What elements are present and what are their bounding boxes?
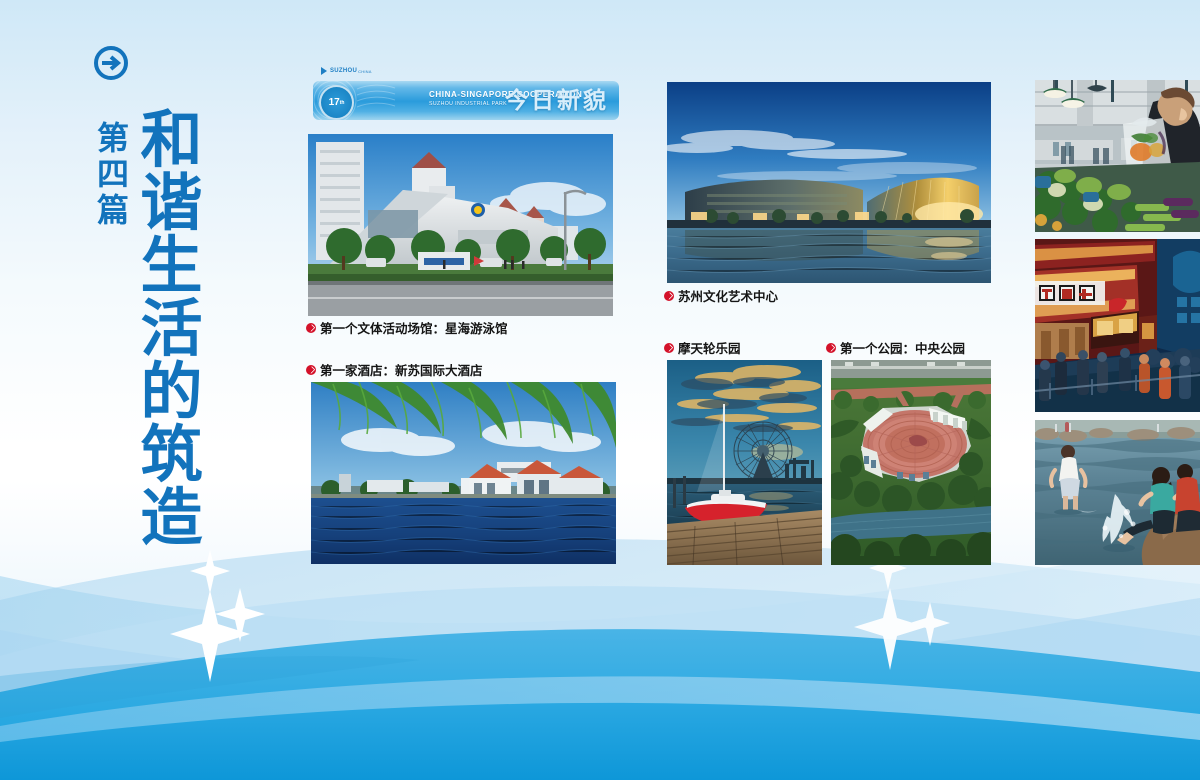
- caption-text: 第一家酒店：新苏国际大酒店: [320, 363, 483, 378]
- caption-text: 第一个文体活动场馆：星海游泳馆: [320, 321, 508, 336]
- caption-central-park: 第一个公园：中央公园: [826, 341, 965, 356]
- circle-arrow-right-icon: [94, 46, 128, 80]
- header-banner: 17th CHINA-SINGAPORE COOPERATION SUZHOU …: [313, 81, 619, 120]
- photo-children-playing-water: [1035, 420, 1200, 565]
- suzhou-tag-subtext: CHINA: [358, 69, 371, 74]
- photo-xinsu-international-hotel: [311, 382, 616, 564]
- photo-suzhou-culture-arts-centre: [667, 82, 991, 283]
- suzhou-china-tag: SUZHOU CHINA: [321, 67, 372, 75]
- caption-text: 第一个公园：中央公园: [840, 341, 965, 356]
- suzhou-tag-text: SUZHOU: [330, 68, 357, 74]
- photo-xinghai-swimming-pool: [308, 134, 613, 316]
- caption-text: 摩天轮乐园: [678, 341, 741, 356]
- red-arrow-bullet-icon: [826, 343, 836, 353]
- banner-chinese-title: 今日新貌: [505, 86, 609, 115]
- red-arrow-bullet-icon: [664, 291, 674, 301]
- poster-page: 第四篇 和谐生活的筑造 SUZHOU CHINA 17th CHINA-SING…: [0, 0, 1200, 780]
- photo-ferris-wheel-park: [667, 360, 822, 565]
- photo-vegetable-market: [1035, 80, 1200, 232]
- caption-xinghai-swimming-pool: 第一个文体活动场馆：星海游泳馆: [306, 321, 508, 336]
- caption-text: 苏州文化艺术中心: [678, 289, 778, 304]
- red-arrow-bullet-icon: [306, 365, 316, 375]
- caption-suzhou-culture-arts-centre: 苏州文化艺术中心: [664, 289, 778, 304]
- red-arrow-bullet-icon: [306, 323, 316, 333]
- photo-commercial-street-night: [1035, 239, 1200, 412]
- caption-xinsu-international-hotel: 第一家酒店：新苏国际大酒店: [306, 363, 483, 378]
- chapter-title-block: 第四篇 和谐生活的筑造: [86, 46, 216, 516]
- anniversary-stamp-badge: 17th: [319, 85, 354, 120]
- photo-central-park: [831, 360, 991, 565]
- stamp-ordinal: th: [340, 100, 345, 106]
- caption-ferris-wheel-park: 摩天轮乐园: [664, 341, 741, 356]
- triangle-marker-icon: [321, 67, 327, 75]
- stamp-number: 17: [329, 97, 340, 108]
- red-arrow-bullet-icon: [664, 343, 674, 353]
- page-title: 和谐生活的筑造: [128, 108, 214, 549]
